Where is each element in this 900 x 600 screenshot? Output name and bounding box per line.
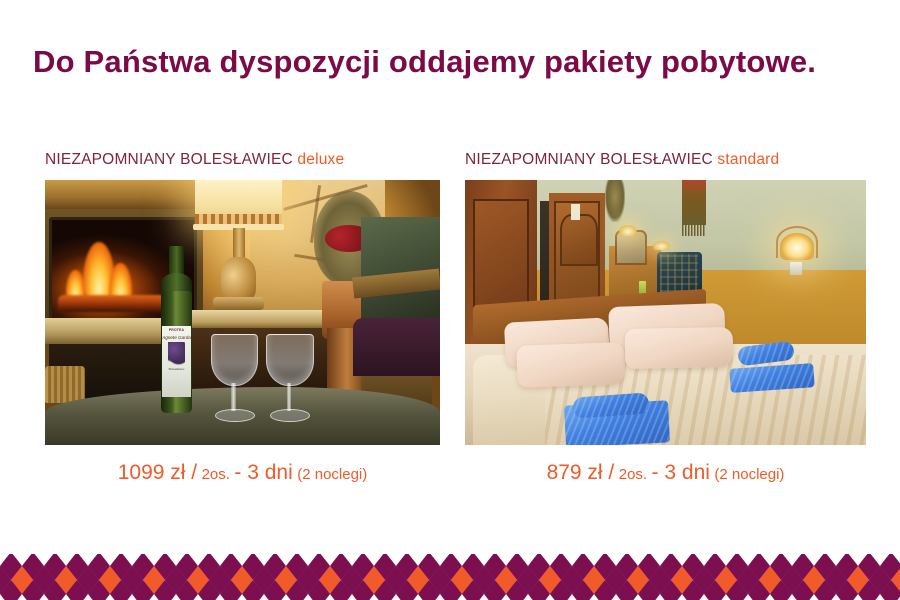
wall-decoration <box>605 180 625 222</box>
price-amount: 1099 zł / <box>118 461 197 484</box>
package-title-deluxe: NIEZAPOMNIANY BOLESŁAWIEC deluxe <box>45 150 440 170</box>
package-card-deluxe[interactable]: NIEZAPOMNIANY BOLESŁAWIEC deluxe <box>45 150 440 483</box>
glass-bowl <box>211 334 258 387</box>
footer-diamond-band <box>0 554 900 600</box>
wine-glass <box>211 334 256 421</box>
lamp-body <box>221 257 257 302</box>
price-per-person: 2os. <box>202 466 230 483</box>
package-card-standard[interactable]: NIEZAPOMNIANY BOLESŁAWIEC standard <box>465 150 866 483</box>
package-photo-deluxe[interactable]: PROTEA Agnete Garda Bolesławiec <box>45 180 440 445</box>
price-nights: (2 noclegi) <box>714 466 784 483</box>
tapestry-fringe <box>682 217 706 236</box>
price-amount: 879 zł / <box>547 461 615 484</box>
diamond-pattern-svg <box>0 554 900 600</box>
wall-lamp-icon <box>780 233 814 260</box>
package-price-deluxe: 1099 zł / 2os. - 3 dni (2 noclegi) <box>45 462 440 483</box>
price-nights: (2 noclegi) <box>297 466 367 483</box>
door-panel <box>560 214 598 266</box>
glass-stem <box>231 383 236 411</box>
lamp-foot <box>213 297 264 310</box>
blue-towel <box>729 363 815 393</box>
package-tier-badge: deluxe <box>297 151 344 168</box>
grapes-icon <box>168 342 184 366</box>
package-name-text: NIEZAPOMNIANY BOLESŁAWIEC <box>45 151 293 168</box>
package-tier-badge: standard <box>717 151 779 168</box>
wardrobe-panel <box>473 199 529 314</box>
fireplace-scene-illustration: PROTEA Agnete Garda Bolesławiec <box>45 180 440 445</box>
wicker-basket <box>45 366 85 403</box>
wine-bottle-label: PROTEA Agnete Garda Bolesławiec <box>162 326 191 398</box>
page-title: Do Państwa dyspozycji oddajemy pakiety p… <box>33 44 816 80</box>
glass-stem <box>287 383 292 411</box>
price-per-person: 2os. <box>619 466 647 483</box>
wall-lamp-icon <box>619 225 637 236</box>
bedroom-scene-illustration <box>465 180 866 445</box>
glass-foot <box>215 409 255 422</box>
wine-brand-text: PROTEA <box>169 328 184 332</box>
slide-root: Do Państwa dyspozycji oddajemy pakiety p… <box>0 0 900 600</box>
stone-ledge <box>187 310 329 329</box>
light-switch <box>790 262 802 275</box>
package-name-text: NIEZAPOMNIANY BOLESŁAWIEC <box>465 151 713 168</box>
wine-glass <box>266 334 311 421</box>
price-duration: - 3 dni <box>652 461 710 484</box>
package-photo-standard[interactable] <box>465 180 866 445</box>
door-tag <box>571 204 580 220</box>
armchair-seat <box>353 318 440 376</box>
pillow <box>516 342 626 388</box>
package-price-standard: 879 zł / 2os. - 3 dni (2 noclegi) <box>465 462 866 483</box>
fireplace-mantel <box>45 180 219 212</box>
wine-footer-text: Bolesławiec <box>169 367 185 371</box>
wine-variety-text: Agnete Garda <box>162 335 191 340</box>
package-title-standard: NIEZAPOMNIANY BOLESŁAWIEC standard <box>465 150 866 170</box>
wall-lamp-icon <box>653 241 669 251</box>
pillow <box>625 327 734 369</box>
price-duration: - 3 dni <box>234 461 292 484</box>
towel-texture <box>729 363 815 393</box>
glass-bowl <box>266 334 313 387</box>
glass-foot <box>270 409 310 422</box>
